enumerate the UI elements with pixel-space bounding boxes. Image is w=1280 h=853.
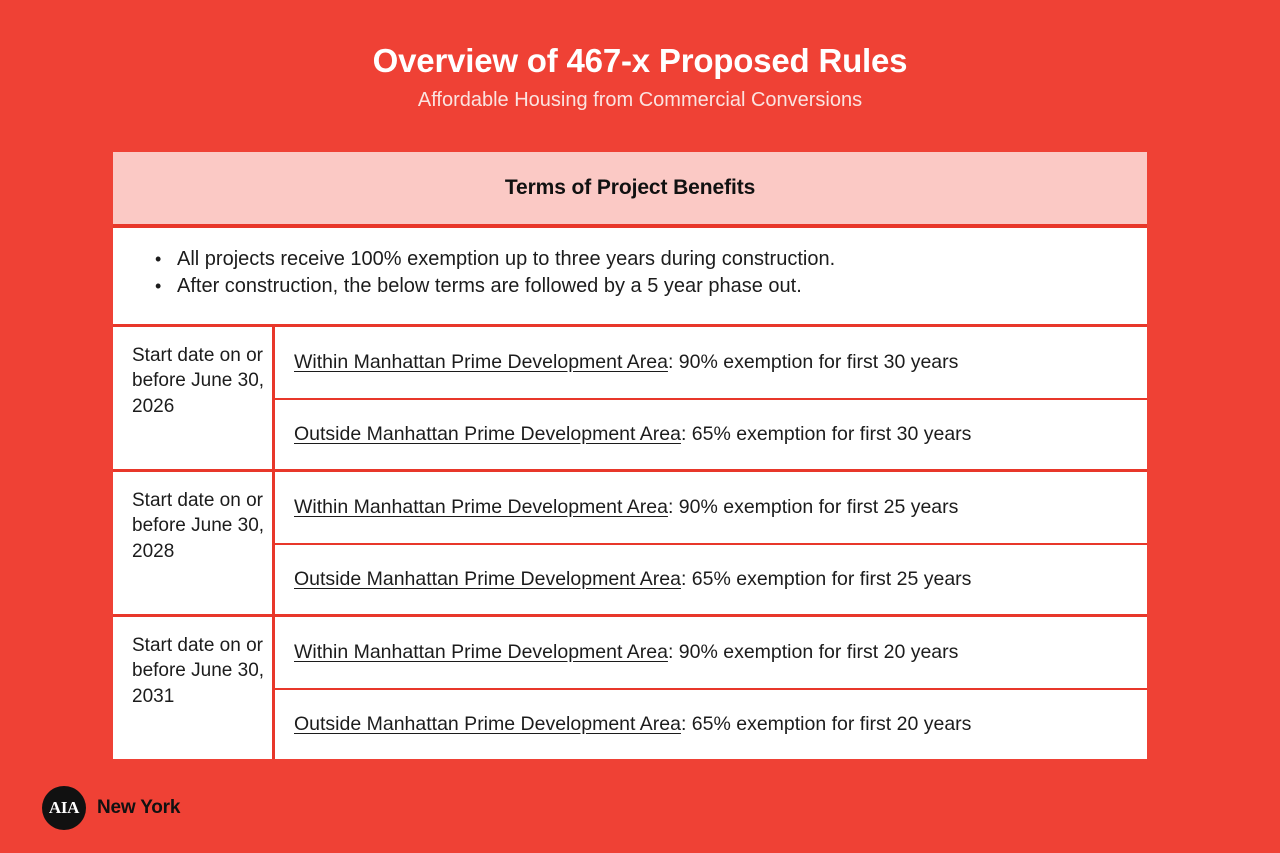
start-date-cell: Start date on or before June 30, 2031 (113, 617, 275, 759)
rule-row: Within Manhattan Prime Development Area:… (275, 472, 1147, 543)
page-title: Overview of 467-x Proposed Rules (0, 42, 1280, 80)
rule-area-label: Within Manhattan Prime Development Area (294, 641, 668, 664)
rules-column: Within Manhattan Prime Development Area:… (275, 472, 1147, 614)
rule-row: Within Manhattan Prime Development Area:… (275, 617, 1147, 688)
terms-table: Terms of Project Benefits • All projects… (113, 152, 1147, 759)
aia-chapter-name: New York (97, 797, 180, 819)
rule-detail: : 90% exemption for first 20 years (668, 641, 958, 664)
bullet-icon: • (155, 247, 177, 271)
rule-area-label: Within Manhattan Prime Development Area (294, 496, 668, 519)
page-subtitle: Affordable Housing from Commercial Conve… (0, 87, 1280, 113)
aia-logo-icon: AIA (42, 786, 86, 830)
table-row: Start date on or before June 30, 2026 Wi… (113, 327, 1147, 472)
note-text: All projects receive 100% exemption up t… (177, 246, 1147, 273)
rule-area-label: Within Manhattan Prime Development Area (294, 351, 668, 374)
rule-row: Outside Manhattan Prime Development Area… (275, 688, 1147, 759)
rule-detail: : 65% exemption for first 20 years (681, 713, 971, 736)
page-header: Overview of 467-x Proposed Rules Afforda… (0, 0, 1280, 113)
start-date-cell: Start date on or before June 30, 2026 (113, 327, 275, 469)
bullet-icon: • (155, 274, 177, 298)
rule-detail: : 65% exemption for first 30 years (681, 423, 971, 446)
rule-area-label: Outside Manhattan Prime Development Area (294, 713, 681, 736)
rule-row: Outside Manhattan Prime Development Area… (275, 543, 1147, 614)
rule-detail: : 90% exemption for first 30 years (668, 351, 958, 374)
footer-logo: AIA New York (42, 786, 180, 830)
note-text: After construction, the below terms are … (177, 273, 1147, 300)
rule-detail: : 90% exemption for first 25 years (668, 496, 958, 519)
list-item: • After construction, the below terms ar… (155, 273, 1147, 300)
aia-logo-text: AIA (49, 798, 79, 818)
rule-detail: : 65% exemption for first 25 years (681, 568, 971, 591)
table-header: Terms of Project Benefits (113, 152, 1147, 228)
rule-row: Within Manhattan Prime Development Area:… (275, 327, 1147, 398)
rules-column: Within Manhattan Prime Development Area:… (275, 617, 1147, 759)
rule-row: Outside Manhattan Prime Development Area… (275, 398, 1147, 469)
table-row: Start date on or before June 30, 2031 Wi… (113, 617, 1147, 759)
notes-section: • All projects receive 100% exemption up… (113, 228, 1147, 327)
rule-area-label: Outside Manhattan Prime Development Area (294, 568, 681, 591)
table-header-title: Terms of Project Benefits (505, 176, 755, 200)
list-item: • All projects receive 100% exemption up… (155, 246, 1147, 273)
rules-column: Within Manhattan Prime Development Area:… (275, 327, 1147, 469)
start-date-cell: Start date on or before June 30, 2028 (113, 472, 275, 614)
table-row: Start date on or before June 30, 2028 Wi… (113, 472, 1147, 617)
rule-area-label: Outside Manhattan Prime Development Area (294, 423, 681, 446)
